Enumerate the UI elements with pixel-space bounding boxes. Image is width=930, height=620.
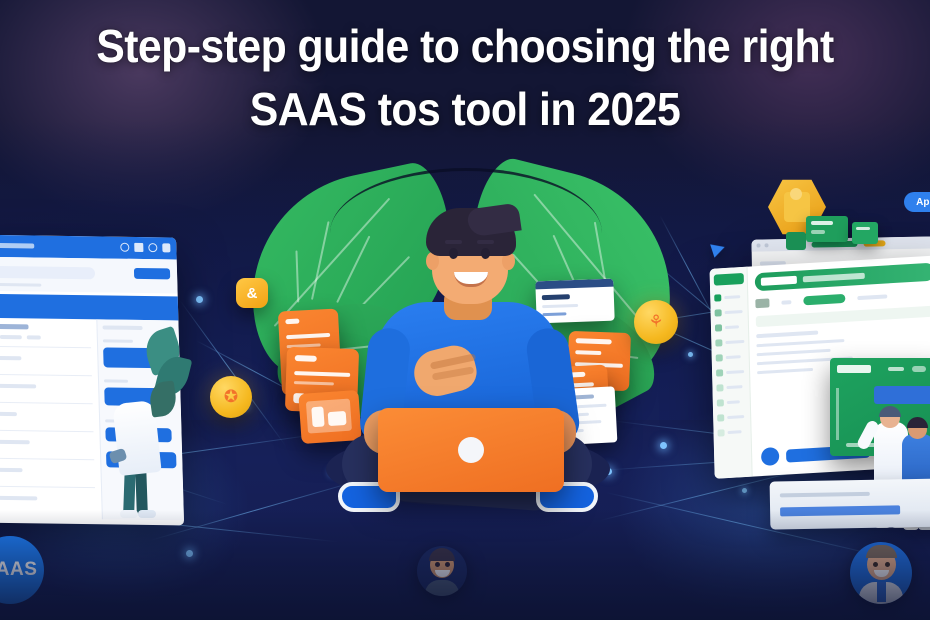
dashboard-table[interactable] — [0, 318, 102, 520]
promo-banner-pill[interactable] — [755, 263, 930, 292]
sidebar-item[interactable] — [716, 383, 745, 392]
sidebar-item[interactable] — [717, 428, 746, 437]
table-row[interactable] — [0, 430, 94, 460]
dashboard-search-row[interactable] — [0, 257, 178, 294]
background-floor-shade — [0, 510, 930, 620]
table-row[interactable] — [0, 458, 95, 488]
table-row[interactable] — [0, 402, 93, 432]
headline-line-1: Step-step guide to choosing the right — [46, 16, 885, 77]
seated-man-with-laptop — [318, 196, 618, 536]
top-right-pill-button[interactable]: Apply — [904, 192, 930, 212]
sidebar-item[interactable] — [716, 368, 745, 377]
eye-left — [449, 248, 458, 259]
sidebar-item[interactable] — [714, 293, 743, 302]
eye-right — [481, 248, 490, 259]
settings-icon[interactable] — [148, 243, 157, 252]
hero-illustration-canvas: & ✪ — [0, 0, 930, 620]
fab-button[interactable] — [761, 447, 779, 466]
foliage-small-left — [140, 330, 194, 430]
sidebar-item[interactable] — [717, 413, 746, 422]
laptop[interactable] — [378, 408, 564, 492]
green-card-top-b[interactable] — [852, 222, 878, 244]
user-icon[interactable] — [162, 243, 170, 252]
table-row[interactable] — [0, 374, 93, 404]
crm-logo — [714, 273, 744, 286]
page-title: Step-step guide to choosing the right SA… — [0, 16, 930, 139]
sidebar-item[interactable] — [716, 353, 745, 362]
gold-coin-badge-left[interactable]: ✪ — [210, 376, 252, 418]
laptop-logo — [458, 437, 484, 463]
green-card-top-a[interactable] — [806, 216, 848, 242]
table-row[interactable] — [0, 346, 92, 376]
gold-coin-badge-right[interactable]: ⚘ — [634, 300, 678, 344]
dashboard-header-bar — [0, 235, 177, 260]
sidebar-item[interactable] — [717, 398, 746, 407]
stats-row — [755, 289, 930, 309]
sidebar-item[interactable] — [715, 338, 744, 347]
headline-line-2: SAAS tos tool in 2025 — [46, 79, 885, 140]
sidebar-item[interactable] — [715, 323, 744, 332]
search-field[interactable] — [756, 306, 930, 328]
green-card-top-c[interactable] — [786, 232, 806, 250]
highlight-banner — [874, 386, 930, 404]
sidebar-item[interactable] — [715, 308, 744, 317]
dashboard-section-header — [0, 294, 184, 321]
bell-icon[interactable] — [120, 243, 129, 252]
primary-button[interactable] — [134, 268, 170, 279]
crm-sidebar[interactable] — [710, 267, 753, 479]
cart-icon[interactable] — [134, 243, 143, 252]
square-gold-badge[interactable]: & — [236, 278, 268, 308]
pill-tag[interactable] — [803, 294, 845, 305]
